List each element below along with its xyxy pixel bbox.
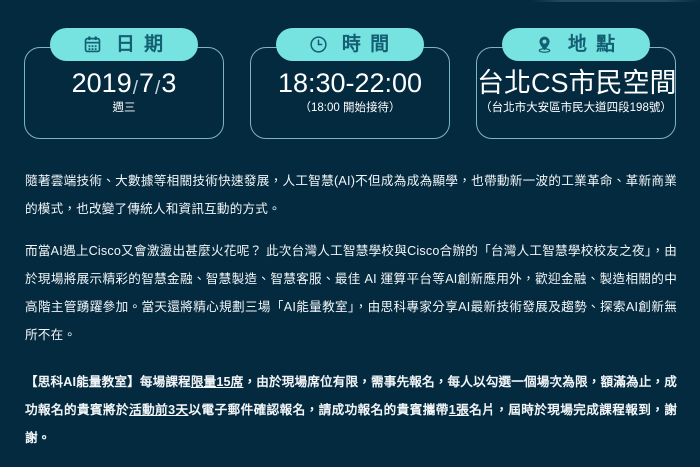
date-value: 2019/7/3 <box>25 69 223 98</box>
location-pill: 地 點 <box>502 28 650 61</box>
time-note: （18:00 開始接待） <box>251 102 449 116</box>
date-weekday: 週三 <box>25 102 223 116</box>
location-pin-icon <box>535 35 555 55</box>
note-highlight-seats: 限量15席 <box>191 375 244 389</box>
event-description: 隨著雲端技術、大數據等相關技術快速發展，人工智慧(AI)不但成為成為顯學，也帶動… <box>25 168 677 467</box>
time-value: 18:30-22:00 <box>251 69 449 98</box>
location-value: 台北CS市民空間 <box>477 69 675 98</box>
info-card-time: 時 間 18:30-22:00 （18:00 開始接待） <box>250 47 450 139</box>
location-card-body: 台北CS市民空間 （台北市大安區市民大道四段198號） <box>477 69 675 116</box>
paragraph-intro: 隨著雲端技術、大數據等相關技術快速發展，人工智慧(AI)不但成為成為顯學，也帶動… <box>25 168 677 224</box>
date-card-body: 2019/7/3 週三 <box>25 69 223 116</box>
calendar-icon <box>83 35 103 55</box>
paragraph-registration-note: 【思科AI能量教室】每場課程限量15席，由於現場席位有限，需事先報名，每人以勾選… <box>25 369 677 453</box>
note-highlight-lead-time: 活動前3天 <box>129 403 188 417</box>
info-card-location: 地 點 台北CS市民空間 （台北市大安區市民大道四段198號） <box>476 47 676 139</box>
time-card-body: 18:30-22:00 （18:00 開始接待） <box>251 69 449 116</box>
date-year: 2019 <box>72 68 132 98</box>
paragraph-details: 而當AI遇上Cisco又會激盪出甚麼火花呢？ 此次台灣人工智慧學校與Cisco合… <box>25 238 677 350</box>
info-card-row: 日 期 2019/7/3 週三 時 間 18:30-22:00 <box>0 47 700 139</box>
date-day: 3 <box>161 68 176 98</box>
location-pill-label: 地 點 <box>568 35 617 54</box>
date-pill: 日 期 <box>50 28 198 61</box>
clock-icon <box>309 35 329 55</box>
top-edge-hairline <box>0 0 700 2</box>
date-month: 7 <box>139 68 154 98</box>
time-pill-label: 時 間 <box>342 35 391 54</box>
time-pill: 時 間 <box>276 28 424 61</box>
note-text-3: 以電子郵件確認報名，請成功報名的貴賓攜帶 <box>189 403 449 417</box>
info-card-date: 日 期 2019/7/3 週三 <box>24 47 224 139</box>
note-text-1: 【思科AI能量教室】每場課程 <box>25 375 191 389</box>
date-separator-2: / <box>154 78 161 99</box>
date-separator-1: / <box>132 78 139 99</box>
note-highlight-card-count: 1張 <box>449 403 469 417</box>
date-pill-label: 日 期 <box>116 35 165 54</box>
event-info-page: 日 期 2019/7/3 週三 時 間 18:30-22:00 <box>0 0 700 438</box>
location-address: （台北市大安區市民大道四段198號） <box>477 102 675 116</box>
